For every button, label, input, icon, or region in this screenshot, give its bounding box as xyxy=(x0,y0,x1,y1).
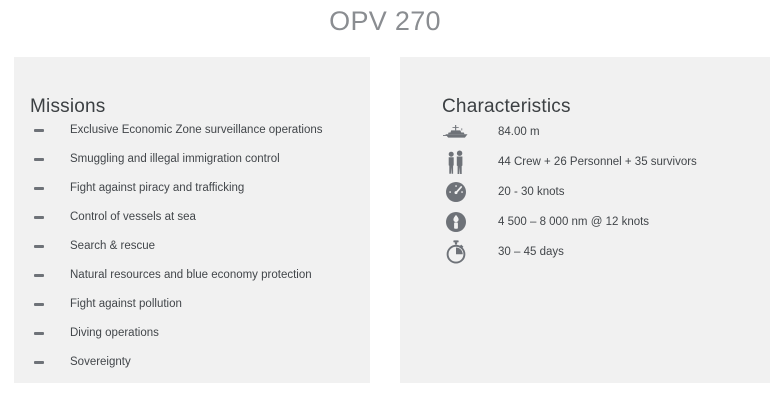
panels-container: Missions Exclusive Economic Zone surveil… xyxy=(0,57,770,383)
list-item: Fight against piracy and trafficking xyxy=(30,174,360,203)
list-item: Natural resources and blue economy prote… xyxy=(30,261,360,290)
list-item: Sovereignty xyxy=(30,348,360,377)
mission-label: Exclusive Economic Zone surveillance ope… xyxy=(70,124,322,136)
list-item: Diving operations xyxy=(30,319,360,348)
dash-bullet-icon xyxy=(34,129,44,132)
mission-label: Sovereignty xyxy=(70,356,131,368)
mission-label: Diving operations xyxy=(70,327,159,339)
mission-label: Fight against piracy and trafficking xyxy=(70,182,244,194)
list-item: Control of vessels at sea xyxy=(30,203,360,232)
missions-heading: Missions xyxy=(30,96,106,118)
list-item: 30 – 45 days xyxy=(442,237,758,267)
list-item: 4 500 – 8 000 nm @ 12 knots xyxy=(442,207,758,237)
fuel-range-icon xyxy=(442,209,470,235)
list-item: Smuggling and illegal immigration contro… xyxy=(30,145,360,174)
stopwatch-endurance-icon xyxy=(442,239,470,265)
dash-bullet-icon xyxy=(34,187,44,190)
characteristics-list: 84.00 m 44 Crew + 26 Personnel + 35 surv… xyxy=(442,117,758,267)
characteristics-heading: Characteristics xyxy=(442,96,571,118)
mission-label: Fight against pollution xyxy=(70,298,182,310)
list-item: 84.00 m xyxy=(442,117,758,147)
spec-value: 84.00 m xyxy=(498,126,540,138)
dash-bullet-icon xyxy=(34,274,44,277)
spec-value: 30 – 45 days xyxy=(498,246,564,258)
dash-bullet-icon xyxy=(34,158,44,161)
spec-value: 20 - 30 knots xyxy=(498,186,564,198)
crew-people-icon xyxy=(442,149,470,175)
dash-bullet-icon xyxy=(34,245,44,248)
dash-bullet-icon xyxy=(34,361,44,364)
dash-bullet-icon xyxy=(34,216,44,219)
list-item: 20 - 30 knots xyxy=(442,177,758,207)
missions-panel: Missions Exclusive Economic Zone surveil… xyxy=(14,57,370,383)
mission-label: Search & rescue xyxy=(70,240,155,252)
missions-list: Exclusive Economic Zone surveillance ope… xyxy=(30,116,360,377)
dash-bullet-icon xyxy=(34,332,44,335)
mission-label: Smuggling and illegal immigration contro… xyxy=(70,153,280,165)
speed-gauge-icon xyxy=(442,179,470,205)
list-item: Exclusive Economic Zone surveillance ope… xyxy=(30,116,360,145)
page-title: OPV 270 xyxy=(0,6,770,37)
characteristics-panel: Characteristics 84.00 m xyxy=(400,57,770,383)
list-item: 44 Crew + 26 Personnel + 35 survivors xyxy=(442,147,758,177)
mission-label: Natural resources and blue economy prote… xyxy=(70,269,312,281)
spec-value: 44 Crew + 26 Personnel + 35 survivors xyxy=(498,156,697,168)
spec-value: 4 500 – 8 000 nm @ 12 knots xyxy=(498,216,649,228)
ship-icon xyxy=(442,119,470,145)
list-item: Fight against pollution xyxy=(30,290,360,319)
mission-label: Control of vessels at sea xyxy=(70,211,196,223)
dash-bullet-icon xyxy=(34,303,44,306)
list-item: Search & rescue xyxy=(30,232,360,261)
